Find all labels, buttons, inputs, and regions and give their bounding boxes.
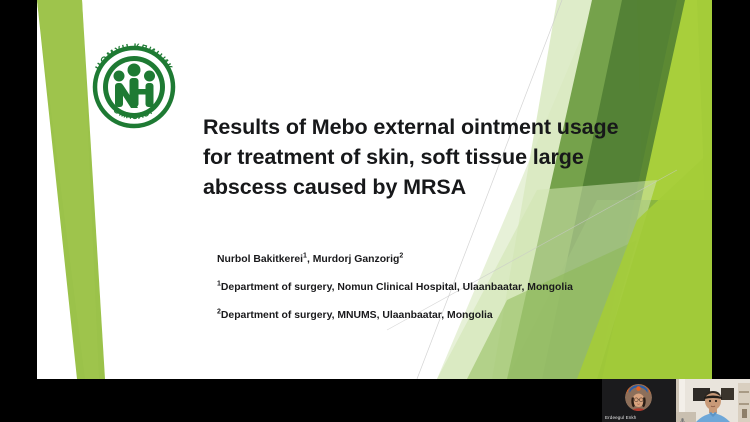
participant-name-label: Erdeegul Enkh: [605, 415, 636, 420]
microphone-muted-icon: [679, 412, 686, 420]
participant-video-feed: [676, 379, 750, 422]
affiliation-text-1: Department of surgery, Nomun Clinical Ho…: [221, 282, 573, 293]
affiliation-2: 2Department of surgery, MNUMS, Ulaanbaat…: [217, 309, 637, 322]
participant-tile-right[interactable]: [676, 379, 750, 422]
right-bright-band-2: [637, 0, 712, 379]
screen-share-view: НОМУН КЛИНИК ЭМНЭЛЭГ Results of Mebo ext…: [0, 0, 750, 422]
affiliation-text-2: Department of surgery, MNUMS, Ulaanbaata…: [221, 310, 493, 321]
author-names: Nurbol Bakitkerei1, Murdorj Ganzorig2: [217, 253, 637, 266]
title-line-1: Results of Mebo external ointment usage: [203, 112, 623, 142]
participant-tile-left[interactable]: Erdeegul Enkh: [602, 379, 676, 422]
title-line-3: abscess caused by MRSA: [203, 172, 623, 202]
author-name-1: Nurbol Bakitkerei: [217, 254, 303, 265]
avatar: [625, 384, 652, 411]
title-line-2: for treatment of skin, soft tissue large: [203, 142, 623, 172]
nomun-clinic-logo: НОМУН КЛИНИК ЭМНЭЛЭГ: [84, 37, 184, 137]
participant-video-strip: Erdeegul Enkh: [602, 379, 750, 422]
slide-authors: Nurbol Bakitkerei1, Murdorj Ganzorig2 1D…: [217, 253, 637, 322]
slide-title: Results of Mebo external ointment usage …: [203, 112, 623, 202]
author-sup-2: 2: [399, 253, 403, 260]
affiliation-1: 1Department of surgery, Nomun Clinical H…: [217, 281, 637, 294]
presentation-slide[interactable]: НОМУН КЛИНИК ЭМНЭЛЭГ Results of Mebo ext…: [37, 0, 712, 379]
author-name-2: , Murdorj Ganzorig: [307, 254, 399, 265]
